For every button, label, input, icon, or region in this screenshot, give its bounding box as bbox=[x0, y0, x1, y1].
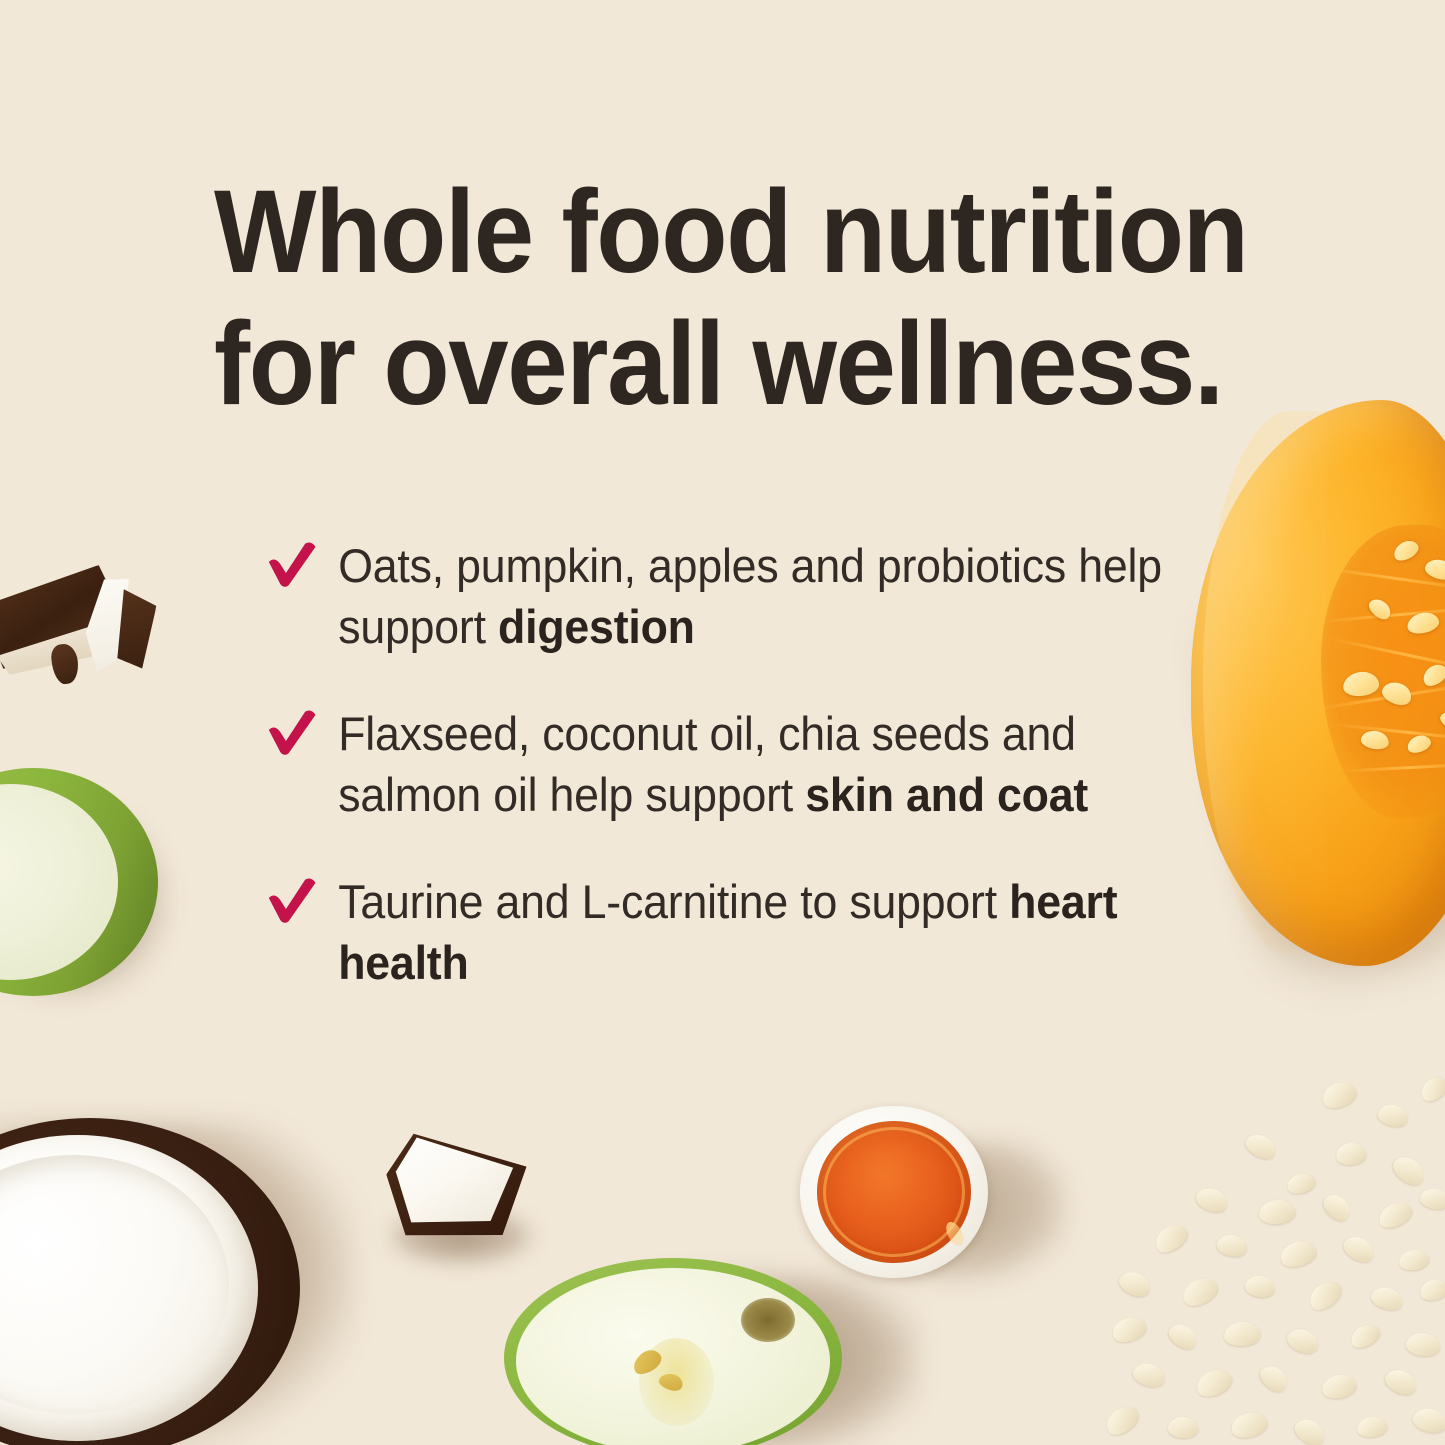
checkmark-icon bbox=[266, 877, 317, 923]
list-item-emphasis: skin and coat bbox=[805, 768, 1088, 821]
list-item: Flaxseed, coconut oil, chia seeds and sa… bbox=[266, 703, 1178, 825]
headline-line-1: Whole food nutrition bbox=[214, 166, 1198, 298]
list-item-text: Flaxseed, coconut oil, chia seeds and sa… bbox=[338, 707, 1088, 821]
list-item-emphasis: digestion bbox=[498, 600, 695, 653]
benefit-list: Oats, pumpkin, apples and probiotics hel… bbox=[266, 535, 1226, 994]
page-title: Whole food nutrition for overall wellnes… bbox=[214, 166, 1198, 430]
list-item: Oats, pumpkin, apples and probiotics hel… bbox=[266, 535, 1178, 657]
list-item-text-lead: Taurine and L-carnitine to support bbox=[338, 875, 1009, 928]
copy-block: Whole food nutrition for overall wellnes… bbox=[0, 0, 1445, 1445]
list-item-text: Taurine and L-carnitine to support heart… bbox=[338, 875, 1117, 989]
promo-image-canvas: Whole food nutrition for overall wellnes… bbox=[0, 0, 1445, 1445]
list-item-text-lead: Oats, pumpkin, apples and probiotics hel… bbox=[338, 539, 1162, 653]
checkmark-icon bbox=[266, 541, 317, 587]
headline-line-2: for overall wellness. bbox=[214, 298, 1198, 430]
checkmark-icon bbox=[266, 709, 317, 755]
list-item: Taurine and L-carnitine to support heart… bbox=[266, 871, 1178, 993]
list-item-text: Oats, pumpkin, apples and probiotics hel… bbox=[338, 539, 1162, 653]
